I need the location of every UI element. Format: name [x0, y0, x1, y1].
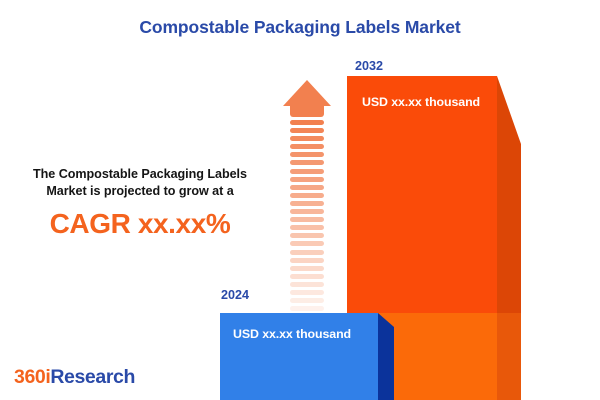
arrow-stripe — [290, 250, 324, 255]
arrow-stripe — [290, 274, 324, 279]
bar-2024-value-label: USD xx.xx thousand — [233, 327, 351, 341]
arrow-stripe — [290, 120, 324, 125]
arrow-stripe — [290, 177, 324, 182]
arrow-stripe-stack — [290, 120, 324, 295]
bar-2032-side-overlap-band — [497, 313, 521, 400]
arrow-stripe — [290, 185, 324, 190]
arrow-stripe — [290, 193, 324, 198]
arrow-stripe — [290, 225, 324, 230]
arrow-stripe — [290, 169, 324, 174]
arrow-stripe — [290, 201, 324, 206]
market-growth-infographic: Compostable Packaging Labels Market The … — [0, 0, 600, 400]
arrow-stripe — [290, 282, 324, 287]
arrow-stripe — [290, 290, 324, 295]
brand-logo-suffix: Research — [50, 366, 135, 388]
arrow-stripe — [290, 144, 324, 149]
arrow-stripe — [290, 128, 324, 133]
cagr-statement: The Compostable Packaging Labels Market … — [12, 166, 268, 240]
statement-line-2: Market is projected to grow at a — [12, 183, 268, 200]
brand-logo: 360iResearch — [14, 366, 135, 389]
cagr-value: CAGR xx.xx% — [12, 208, 268, 240]
bar-2032-value-label: USD xx.xx thousand — [362, 95, 480, 109]
arrow-stripe — [290, 152, 324, 157]
arrow-stripe — [290, 241, 324, 246]
arrow-stripe — [290, 217, 324, 222]
page-title: Compostable Packaging Labels Market — [0, 17, 600, 38]
growth-arrow-icon — [283, 80, 331, 295]
arrow-stripe — [290, 233, 324, 238]
arrow-head-icon — [283, 80, 331, 106]
arrow-stripe — [290, 160, 324, 165]
arrow-stripe — [290, 298, 324, 303]
arrow-stripe — [290, 258, 324, 263]
bar-label-year-2032: 2032 — [355, 59, 383, 73]
brand-logo-prefix: 360i — [14, 366, 50, 388]
arrow-neck — [290, 105, 324, 117]
bar-label-year-2024: 2024 — [221, 288, 249, 302]
arrow-stripe — [290, 136, 324, 141]
arrow-stripe — [290, 266, 324, 271]
bar-2024-side-face — [378, 313, 394, 400]
arrow-stripe — [290, 209, 324, 214]
statement-line-1: The Compostable Packaging Labels — [12, 166, 268, 183]
arrow-stripe — [290, 306, 324, 311]
